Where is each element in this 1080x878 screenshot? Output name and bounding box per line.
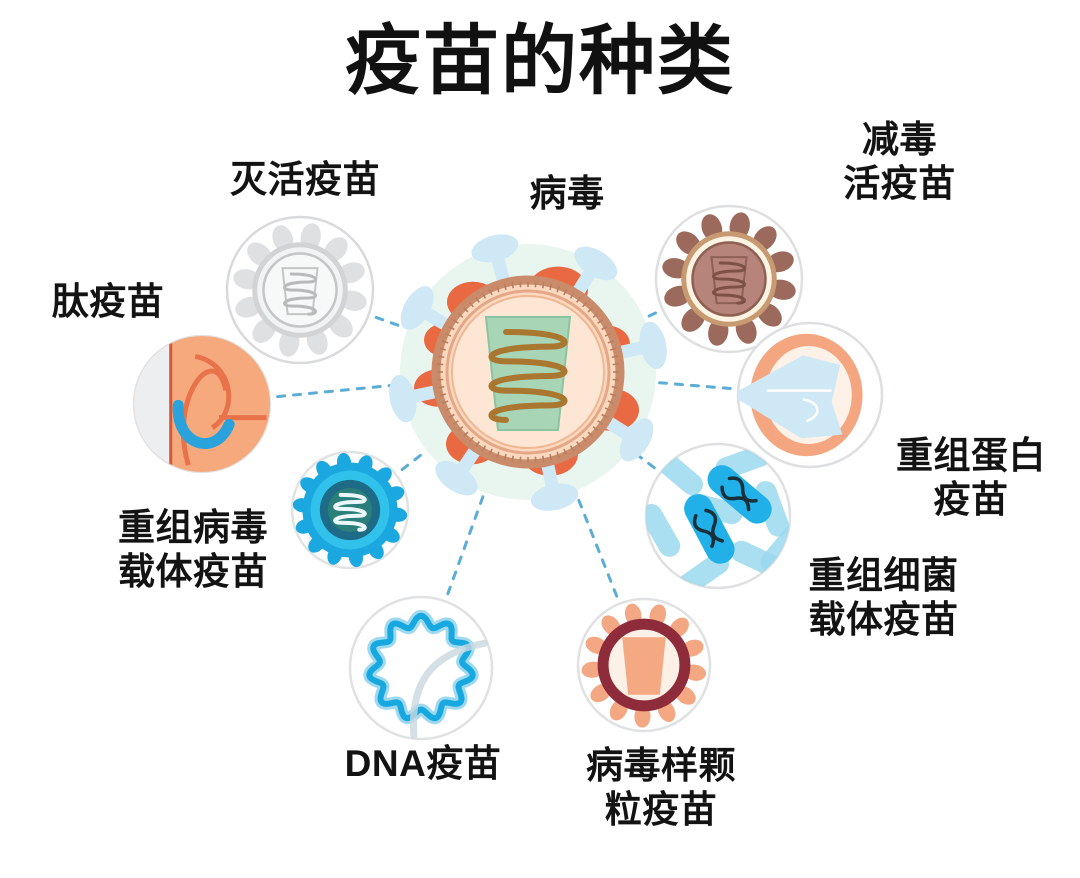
label-recombinant-protein: 重组蛋白 疫苗	[866, 434, 1076, 521]
connector-line-viral-vector	[402, 453, 424, 470]
node-illustration-vlp[interactable]	[578, 599, 710, 731]
label-peptide: 肽疫苗	[18, 280, 198, 324]
connector-line-inactivated	[376, 317, 404, 327]
connector-line-vlp	[577, 495, 617, 596]
connector-line-attenuated	[648, 313, 656, 317]
label-vlp: 病毒样颗 粒疫苗	[551, 744, 771, 831]
connector-line-recombinant-protein	[660, 383, 731, 389]
node-illustration-dna[interactable]	[350, 597, 492, 739]
infographic-canvas: 疫苗的种类 灭活疫苗减毒 活疫苗肽疫苗重组蛋白 疫苗重组病毒 载体疫苗重组细菌 …	[0, 0, 1080, 878]
label-attenuated: 减毒 活疫苗	[792, 118, 1007, 205]
connector-line-dna	[448, 496, 483, 594]
label-dna: DNA疫苗	[308, 742, 538, 786]
node-illustration-inactivated[interactable]	[227, 217, 373, 363]
connector-line-peptide	[278, 385, 397, 397]
label-viral-vector: 重组病毒 载体疫苗	[78, 506, 308, 593]
node-illustration-viral-vector[interactable]	[292, 452, 408, 568]
node-illustration-peptide[interactable]	[134, 336, 270, 472]
label-bacterial-vector: 重组细菌 载体疫苗	[776, 554, 991, 641]
center-label-virus: 病毒	[492, 172, 642, 216]
label-inactivated: 灭活疫苗	[190, 158, 420, 202]
central-virus-illustration	[385, 230, 671, 515]
